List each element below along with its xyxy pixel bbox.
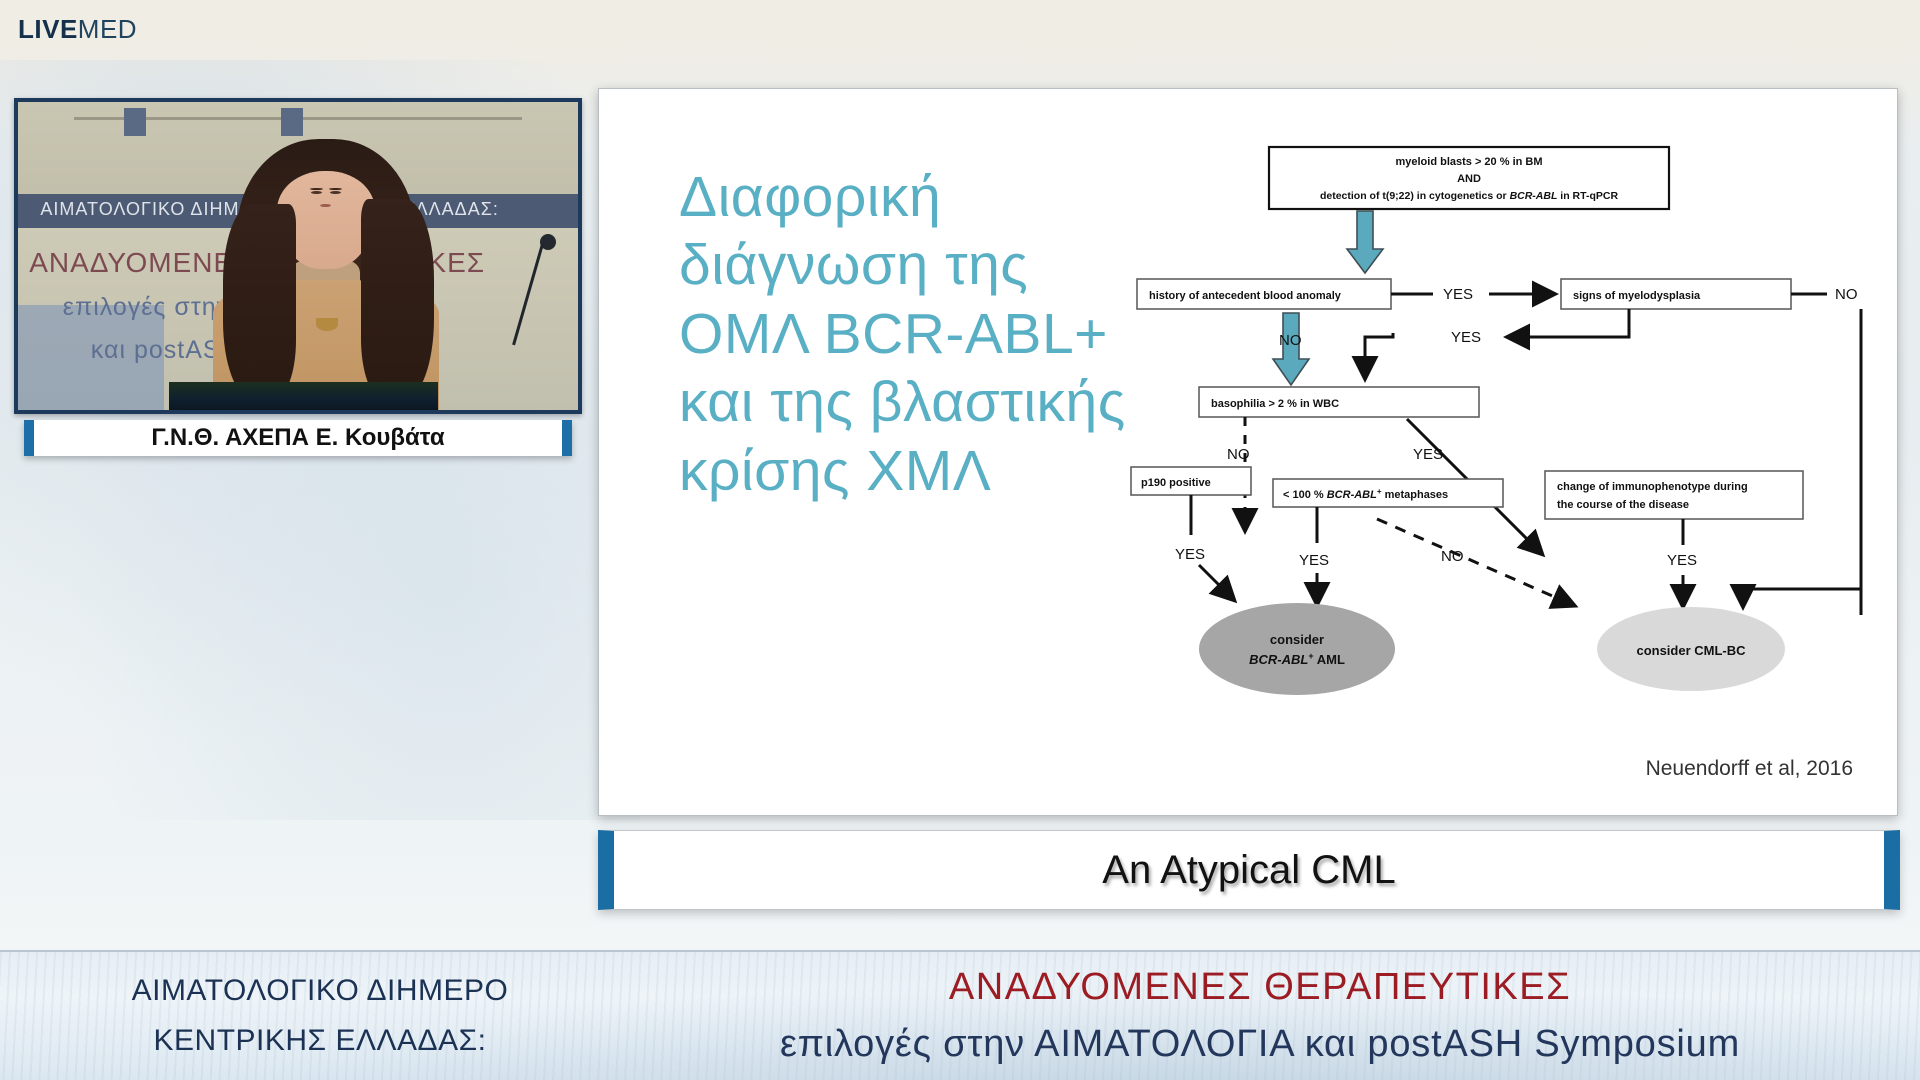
laptop [169,382,438,410]
speaker-figure [203,139,449,410]
footer-right-line1: ΑΝΑΔΥΟΜΕΝΕΣ ΘΕΡΑΠΕΥΤΙΚΕΣ [949,966,1571,1009]
edge-mds-basophilia: YES [1365,309,1629,377]
svg-text:YES: YES [1175,546,1205,563]
speaker-video[interactable]: ΑΙΜΑΤΟΛΟΓΙΚΟ ΔΙΗΜΕΡΟ ΚΕΝΤΡΙΚΗΣ ΕΛΛΑΔΑΣ: … [14,98,582,414]
video-frame: ΑΙΜΑΤΟΛΟΓΙΚΟ ΔΙΗΜΕΡΟ ΚΕΝΤΡΙΚΗΣ ΕΛΛΑΔΑΣ: … [18,102,578,410]
svg-text:YES: YES [1299,552,1329,569]
svg-text:YES: YES [1413,446,1443,463]
svg-text:myeloid blasts > 20 % in BM: myeloid blasts > 20 % in BM [1395,156,1542,168]
svg-text:change of immunophenotype duri: change of immunophenotype during [1557,481,1748,493]
node-metaphases: < 100 % BCR-ABL+ metaphases [1273,479,1503,507]
livemed-logo[interactable]: LIVEMED [18,16,137,42]
speaker-mouth [320,204,331,207]
svg-text:BCR-ABL+ AML: BCR-ABL+ AML [1249,651,1345,667]
event-footer: ΑΙΜΑΤΟΛΟΓΙΚΟ ΔΙΗΜΕΡΟ ΚΕΝΤΡΙΚΗΣ ΕΛΛΑΔΑΣ: … [0,950,1920,1080]
backdrop-tab-right [281,108,303,136]
footer-right: ΑΝΑΔΥΟΜΕΝΕΣ ΘΕΡΑΠΕΥΤΙΚΕΣ επιλογές στην Α… [600,952,1920,1080]
svg-text:YES: YES [1443,286,1473,303]
speaker-eye-right [330,191,341,194]
node-aml-outcome: consider BCR-ABL+ AML [1199,603,1395,695]
svg-text:AND: AND [1457,173,1481,185]
speaker-brow-right [329,188,342,190]
edge-metaphases-aml: YES [1299,507,1329,603]
node-immunophenotype: change of immunophenotype during the cou… [1545,471,1803,519]
presentation-slide[interactable]: Διαφορική διάγνωση της ΟΜΛ BCR-ABL+ και … [598,88,1898,816]
logo-light-part: MED [78,14,137,44]
edge-immunophenotype-cmlbc: YES [1667,519,1697,605]
svg-text:NO: NO [1279,332,1302,349]
backdrop-tab-left [124,108,146,136]
edge-history-mds: YES [1391,286,1553,303]
diagnosis-flowchart: myeloid blasts > 20 % in BM AND detectio… [1121,137,1881,737]
node-entry: myeloid blasts > 20 % in BM AND detectio… [1269,147,1669,209]
slide-citation: Neuendorff et al, 2016 [1646,757,1853,781]
svg-text:YES: YES [1667,552,1697,569]
node-p190: p190 positive [1131,467,1251,495]
svg-text:p190 positive: p190 positive [1141,477,1211,489]
footer-right-line2: επιλογές στην ΑΙΜΑΤΟΛΟΓΙΑ και postASH Sy… [780,1023,1740,1066]
speaker-hair-front-right [361,199,435,400]
svg-text:NO: NO [1227,446,1250,463]
node-cmlbc-outcome: consider CML-BC [1597,607,1785,691]
svg-text:the course of the disease: the course of the disease [1557,499,1689,511]
edge-metaphases-cmlbc: NO [1377,519,1573,605]
footer-left-line2: ΚΕΝΤΡΙΚΗΣ ΕΛΛΑΔΑΣ: [0,1024,640,1058]
session-title-bar: An Atypical CML [598,830,1900,910]
edge-p190-aml: YES [1175,495,1233,599]
edge-history-basophilia-teal: NO [1273,313,1309,385]
logo-bold-part: LIVE [18,14,78,44]
flowchart-svg: myeloid blasts > 20 % in BM AND detectio… [1121,137,1881,737]
edge-no-rail-cmlbc [1743,589,1861,605]
svg-text:signs of myelodysplasia: signs of myelodysplasia [1573,290,1701,302]
speaker-brow-left [310,188,323,190]
speaker-eye-left [311,191,322,194]
edge-entry-history-teal [1347,211,1383,273]
node-basophilia: basophilia > 2 % in WBC [1199,387,1479,417]
speaker-name: Γ.Ν.Θ. ΑΧΕΠΑ Ε. Κουβάτα [151,424,444,452]
session-title: An Atypical CML [1102,848,1395,893]
speaker-name-bar: Γ.Ν.Θ. ΑΧΕΠΑ Ε. Κουβάτα [24,420,572,456]
svg-text:history of antecedent blood an: history of antecedent blood anomaly [1149,290,1342,302]
svg-text:NO: NO [1835,286,1858,303]
svg-text:consider: consider [1270,632,1324,647]
svg-text:consider CML-BC: consider CML-BC [1636,643,1746,658]
svg-text:basophilia > 2 % in WBC: basophilia > 2 % in WBC [1211,398,1339,410]
node-mds: signs of myelodysplasia [1561,279,1791,309]
node-history: history of antecedent blood anomaly [1137,279,1391,309]
speaker-hair-front-left [223,204,297,399]
footer-left-line1: ΑΙΜΑΤΟΛΟΓΙΚΟ ΔΙΗΜΕΡΟ [0,974,640,1008]
player-root: LIVEMED ΑΙΜΑΤΟΛΟΓΙΚΟ ΔΙΗΜΕΡΟ ΚΕΝΤΡΙΚΗΣ Ε… [0,0,1920,1080]
edge-mds-no-rail: NO [1791,286,1861,615]
svg-text:YES: YES [1451,329,1481,346]
svg-text:NO: NO [1441,548,1464,565]
svg-text:< 100 % BCR-ABL+ metaphases: < 100 % BCR-ABL+ metaphases [1283,487,1448,502]
slide-title: Διαφορική διάγνωση της ΟΜΛ BCR-ABL+ και … [679,163,1129,505]
footer-left: ΑΙΜΑΤΟΛΟΓΙΚΟ ΔΙΗΜΕΡΟ ΚΕΝΤΡΙΚΗΣ ΕΛΛΑΔΑΣ: [0,952,640,1080]
svg-text:detection of t(9;22) in cytoge: detection of t(9;22) in cytogenetics or … [1320,190,1619,202]
